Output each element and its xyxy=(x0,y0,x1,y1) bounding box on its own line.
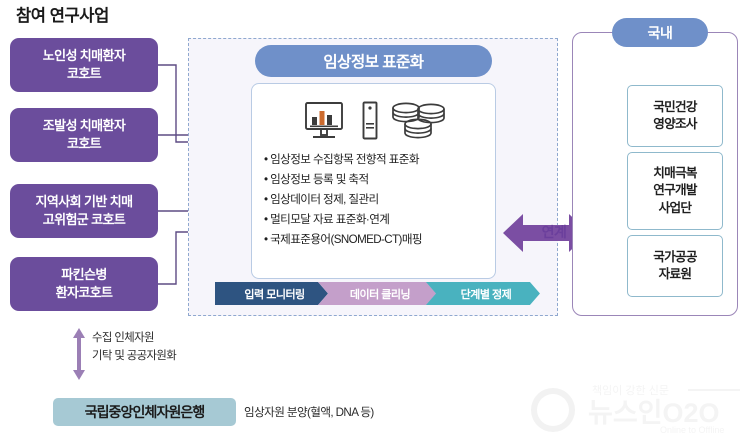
watermark-sub: Online to Offline xyxy=(660,425,724,435)
biobank-note: 임상자원 분양(혈액, DNA 등) xyxy=(244,399,474,425)
newsin-o2o-watermark: 책임이 강한 신문 뉴스인O2O Online to Offline xyxy=(520,378,744,438)
bullet-item: 임상정보 수집항목 전향적 표준화 xyxy=(264,150,496,170)
icon-row xyxy=(252,94,497,148)
cohort-label-line2: 코호트 xyxy=(67,65,101,83)
cohort-label-line1: 지역사회 기반 치매 xyxy=(36,193,133,211)
source-label-line1: 국가공공 xyxy=(653,249,697,266)
desktop-tower-icon xyxy=(362,101,378,141)
bullet-item: 임상정보 등록 및 축적 xyxy=(264,170,496,190)
cohort-box-elderly-dementia[interactable]: 노인성 치매환자 코호트 xyxy=(10,38,158,92)
bullet-item: 국제표준용어(SNOMED-CT)매핑 xyxy=(264,230,496,250)
bullet-item: 멀티모달 자료 표준화·연계 xyxy=(264,210,496,230)
cohort-label-line2: 고위험군 코호트 xyxy=(43,211,126,229)
pipeline-step-input-monitoring[interactable]: 입력 모니터링 xyxy=(215,282,328,305)
source-label-line1: 국민건강 xyxy=(653,99,697,116)
database-stack-icon xyxy=(390,99,446,143)
diagram-canvas: 참여 연구사업 노인성 치매환자 코호트 조발성 치매환자 코호트 지역사회 기… xyxy=(0,0,748,440)
source-label-line2: 영양조사 xyxy=(653,116,697,133)
cohort-box-parkinsons[interactable]: 파킨슨병 환자코호트 xyxy=(10,257,158,311)
domestic-panel-title: 국내 xyxy=(612,18,708,47)
deposit-description: 수집 인체자원 기탁 및 공공자원화 xyxy=(92,330,272,365)
cohort-label-line1: 조발성 치매환자 xyxy=(43,117,126,135)
pipeline-step-data-cleaning[interactable]: 데이터 클리닝 xyxy=(318,282,436,305)
standardization-bullet-list: 임상정보 수집항목 전향적 표준화 임상정보 등록 및 축적 임상데이터 정제,… xyxy=(264,150,496,250)
monitor-bar-chart-icon xyxy=(304,101,350,141)
cohort-label-line2: 코호트 xyxy=(67,135,101,153)
watermark-tagline: 책임이 강한 신문 xyxy=(592,384,669,397)
source-box-dementia-rnd-group[interactable]: 치매극복 연구개발 사업단 xyxy=(627,152,723,230)
cohort-label-line2: 환자코호트 xyxy=(56,284,113,302)
deposit-line2: 기탁 및 공공자원화 xyxy=(92,348,272,366)
source-label-line2: 자료원 xyxy=(659,266,692,283)
source-label-line3: 사업단 xyxy=(659,200,692,217)
source-label-line1: 치매극복 xyxy=(653,165,697,182)
source-label-line2: 연구개발 xyxy=(653,182,697,199)
cohort-label-line1: 파킨슨병 xyxy=(61,266,106,284)
bidirectional-vertical-arrow-icon xyxy=(72,328,86,380)
bullet-item: 임상데이터 정제, 질관리 xyxy=(264,190,496,210)
pipeline-step-staged-refinement[interactable]: 단계별 정제 xyxy=(426,282,540,305)
cohort-box-early-onset-dementia[interactable]: 조발성 치매환자 코호트 xyxy=(10,108,158,162)
watermark-brand: 뉴스인O2O xyxy=(588,398,720,428)
deposit-line1: 수집 인체자원 xyxy=(92,330,272,348)
cohort-box-community-high-risk[interactable]: 지역사회 기반 치매 고위험군 코호트 xyxy=(10,184,158,238)
center-panel-title: 임상정보 표준화 xyxy=(255,45,492,77)
source-box-national-public-data[interactable]: 국가공공 자료원 xyxy=(627,235,723,297)
center-content-card: 임상정보 수집항목 전향적 표준화 임상정보 등록 및 축적 임상데이터 정제,… xyxy=(251,83,496,279)
source-box-national-health-nutrition-survey[interactable]: 국민건강 영양조사 xyxy=(627,85,723,147)
cohort-label-line1: 노인성 치매환자 xyxy=(43,47,126,65)
process-pipeline: 입력 모니터링 데이터 클리닝 단계별 정제 xyxy=(215,282,540,305)
biobank-box[interactable]: 국립중앙인체자원은행 xyxy=(53,398,236,426)
